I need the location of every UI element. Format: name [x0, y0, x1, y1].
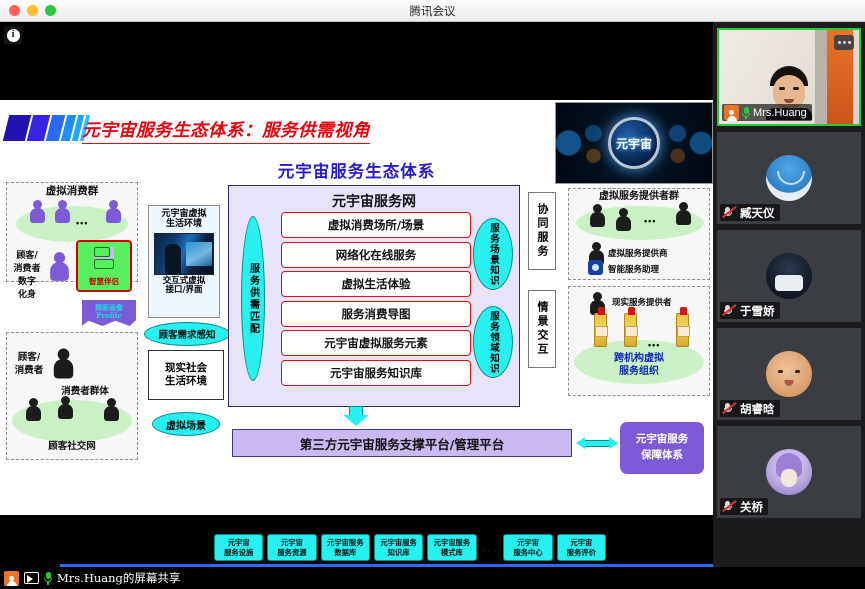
- service-row[interactable]: 网络化在线服务: [281, 242, 471, 268]
- smart-companion-label: 智慧伴侣: [78, 276, 130, 287]
- robot-icon: [94, 247, 114, 269]
- microphone-muted-icon: [722, 402, 737, 415]
- service-match-ellipse: 服务供需匹配: [241, 216, 265, 381]
- service-domain-knowledge-ellipse: 服务领域知识: [473, 306, 513, 378]
- consumer-group-label: 消费者群体: [40, 387, 130, 398]
- avatar: [766, 253, 812, 299]
- service-row[interactable]: 元宇宙虚拟服务元素: [281, 330, 471, 356]
- social-figure: [26, 398, 41, 421]
- window-titlebar: 腾讯会议: [0, 0, 865, 22]
- participant-namebar: 关桥: [720, 498, 768, 515]
- profile-line2: Profile: [96, 311, 122, 320]
- tile-more-options-icon[interactable]: [834, 35, 854, 50]
- avatar: [766, 351, 812, 397]
- collaborative-service-label: 协同服务: [528, 192, 556, 270]
- screen-share-label: Mrs.Huang的屏幕共享: [57, 570, 180, 586]
- social-network-label: 顾客社交网: [12, 442, 132, 453]
- participant-name: 臧天仪: [740, 205, 775, 221]
- social-figure: [104, 398, 119, 421]
- platform-cell[interactable]: 元宇宙服务评价: [557, 534, 606, 561]
- logo-label: 元宇宙: [616, 135, 652, 152]
- avatar-figure: [106, 200, 121, 223]
- service-row[interactable]: 元宇宙服务知识库: [281, 360, 471, 386]
- window-title: 腾讯会议: [0, 3, 865, 19]
- customer-consumer-label: 顾客/消费者: [6, 352, 52, 378]
- microphone-icon: [44, 572, 52, 584]
- customer-avatar-label: 顾客/消费者数字化身: [4, 250, 50, 302]
- platform-cell[interactable]: 元宇宙服务模式库: [427, 534, 476, 561]
- avatar-figure: [55, 200, 70, 223]
- host-badge-icon: [724, 105, 739, 120]
- microphone-muted-icon: [722, 206, 737, 219]
- slide-decoration: [6, 115, 87, 141]
- avatar-figure: [30, 200, 45, 223]
- platform-cell-row: 元宇宙服务设施 元宇宙服务资源 元宇宙服务数据库 元宇宙服务知识库 元宇宙服务模…: [214, 534, 606, 561]
- participant-name: 于雪娇: [740, 303, 775, 319]
- cloud-ellipsis: •••: [76, 218, 88, 228]
- social-figure: [58, 396, 73, 419]
- customer-digital-avatar: [50, 252, 69, 281]
- platform-cell[interactable]: 元宇宙服务数据库: [321, 534, 370, 561]
- provider-figure: [590, 204, 605, 227]
- metaverse-service-network-panel: 元宇宙服务网 服务供需匹配 虚拟消费场所/场景 网络化在线服务 虚拟生活体验 服…: [228, 185, 520, 407]
- bottle-icon: [676, 313, 689, 347]
- participant-tile[interactable]: 臧天仪: [717, 132, 861, 224]
- participant-name: Mrs.Huang: [753, 107, 807, 119]
- center-header: 元宇宙服务网: [229, 186, 519, 211]
- info-icon[interactable]: i: [4, 26, 22, 44]
- avatar: [766, 155, 812, 201]
- participant-panel[interactable]: Mrs.Huang 臧天仪 于雪娇 胡睿晗: [713, 22, 865, 567]
- participant-namebar: Mrs.Huang: [722, 104, 812, 121]
- participant-name: 胡睿晗: [740, 401, 775, 417]
- bottle-icon: [624, 313, 637, 347]
- real-life-env-box: 现实社会生活环境: [148, 350, 224, 400]
- customer-profile-ribbon: 顾客画像 Profile: [82, 300, 136, 326]
- presentation-slide: 元宇宙服务生态体系：服务供需视角 元宇宙 元宇宙服务生态体系 虚拟消费群 •••…: [0, 100, 713, 515]
- double-arrow-icon: [576, 437, 618, 449]
- bottle-icon: [594, 313, 607, 347]
- service-row[interactable]: 虚拟生活体验: [281, 271, 471, 297]
- bottle-ellipsis: •••: [648, 340, 660, 350]
- third-party-platform-bar: 第三方元宇宙服务支撑平台/管理平台: [232, 429, 572, 457]
- microphone-muted-icon: [722, 304, 737, 317]
- participant-namebar: 胡睿晗: [720, 400, 780, 417]
- provider-figure: [616, 208, 631, 231]
- virtual-scene-ellipse: 虚拟场景: [152, 412, 220, 436]
- microphone-icon: [742, 107, 750, 119]
- participant-namebar: 于雪娇: [720, 302, 780, 319]
- customer-figure: [54, 349, 74, 379]
- smart-companion-box: 智慧伴侣: [76, 240, 132, 292]
- screen-share-statusbar: Mrs.Huang的屏幕共享: [0, 567, 713, 589]
- platform-cell[interactable]: 元宇宙服务知识库: [374, 534, 423, 561]
- virtual-life-env-box: 元宇宙虚拟生活环境 交互式虚拟接口/界面: [148, 205, 220, 318]
- real-provider-label: 现实服务提供者: [612, 296, 672, 308]
- virtual-consumer-group-label: 虚拟消费群: [10, 186, 134, 198]
- platform-ellipsis: ...: [481, 540, 500, 555]
- participant-tile[interactable]: 于雪娇: [717, 230, 861, 322]
- vr-photo: [154, 233, 214, 275]
- participant-name: 关桥: [740, 499, 763, 515]
- shared-screen-stage: i 元宇宙服务生态体系：服务供需视角 元宇宙 元宇宙服务生态体系 虚拟消费群 •…: [0, 22, 713, 545]
- demand-perception-ellipse: 顾客需求感知: [144, 322, 230, 346]
- service-row[interactable]: 服务消费导图: [281, 301, 471, 327]
- virtual-provider-group-label: 虚拟服务提供者群: [572, 191, 706, 202]
- participant-tile[interactable]: 胡睿晗: [717, 328, 861, 420]
- host-badge-icon: [4, 571, 19, 586]
- virtual-provider-label: 虚拟服务提供商: [608, 247, 668, 259]
- platform-cell[interactable]: 元宇宙服务中心: [503, 534, 552, 561]
- avatar: [766, 449, 812, 495]
- service-row[interactable]: 虚拟消费场所/场景: [281, 212, 471, 238]
- slide-subtitle: 元宇宙服务生态体系: [0, 158, 713, 182]
- microphone-muted-icon: [722, 500, 737, 513]
- platform-cell[interactable]: 元宇宙服务资源: [267, 534, 316, 561]
- provider-cloud-ellipsis: •••: [644, 216, 656, 226]
- cross-org-label: 跨机构虚拟服务组织: [574, 352, 704, 378]
- slide-title: 元宇宙服务生态体系：服务供需视角: [82, 117, 370, 144]
- service-row-list: 虚拟消费场所/场景 网络化在线服务 虚拟生活体验 服务消费导图 元宇宙虚拟服务元…: [281, 212, 471, 389]
- participant-namebar: 臧天仪: [720, 204, 780, 221]
- participant-tile-active[interactable]: Mrs.Huang: [717, 28, 861, 126]
- virtual-life-env-label: 元宇宙虚拟生活环境: [149, 206, 219, 230]
- provider-figure: [676, 202, 691, 225]
- context-interaction-label: 情景交互: [528, 290, 556, 368]
- participant-tile[interactable]: 关桥: [717, 426, 861, 518]
- screen-share-icon: [24, 572, 39, 584]
- service-scenario-knowledge-ellipse: 服务场景知识: [473, 218, 513, 290]
- info-glyph: i: [7, 29, 20, 42]
- smart-assistant-label: 智能服务助理: [608, 263, 659, 275]
- platform-cell[interactable]: 元宇宙服务设施: [214, 534, 263, 561]
- guarantee-system-box: 元宇宙服务保障体系: [620, 422, 704, 474]
- interactive-ui-label: 交互式虚拟接口/界面: [149, 277, 219, 297]
- assistant-icon: [588, 260, 603, 275]
